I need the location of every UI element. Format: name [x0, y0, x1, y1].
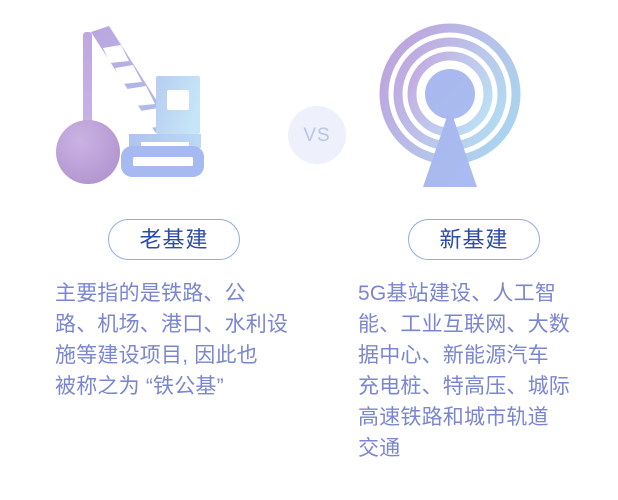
- tower-body: [423, 108, 477, 187]
- icon-row: VS: [0, 18, 618, 214]
- pill-label-text: 老基建: [139, 229, 208, 251]
- crane-cable: [83, 32, 92, 126]
- infographic-root: VS: [0, 0, 618, 500]
- pill-label-text: 新基建: [439, 229, 508, 251]
- crane-wrecking-ball-icon: [55, 18, 295, 214]
- label-pill-old-infrastructure: 老基建: [108, 219, 240, 260]
- description-old-infrastructure: 主要指的是铁路、公 路、机场、港口、水利设 施等建设项目, 因此也 被称之为 “…: [55, 278, 303, 402]
- label-pill-new-infrastructure: 新基建: [408, 219, 540, 260]
- vs-badge: VS: [288, 106, 346, 164]
- crane-base-slot: [133, 157, 193, 166]
- signal-tower-5g-icon: [370, 18, 610, 214]
- wrecking-ball: [56, 120, 120, 184]
- description-new-infrastructure: 5G基站建设、人工智 能、工业互联网、大数 据中心、新能源汽车 充电桩、特高压、…: [358, 278, 606, 464]
- vs-label: VS: [303, 126, 330, 145]
- cab-window: [167, 90, 189, 110]
